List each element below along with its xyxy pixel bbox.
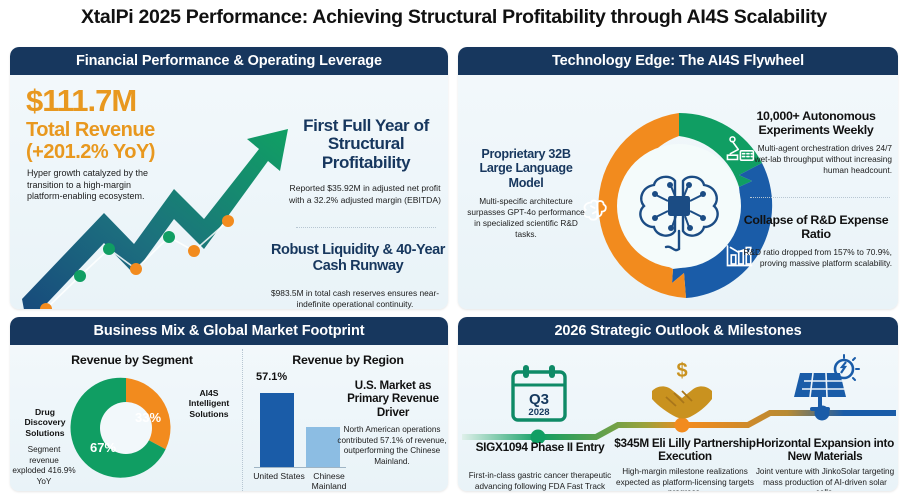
milestone-3-description: Joint venture with JinkoSolar targeting … (754, 467, 896, 491)
timeline-node-2 (675, 418, 690, 433)
divider (750, 197, 890, 198)
segment-label-ai4s: AI4S Intelligent Solutions (178, 388, 240, 419)
bar-chinese-mainland (306, 427, 340, 467)
total-revenue-description: Hyper growth catalyzed by the transition… (27, 168, 159, 203)
total-revenue-value: $111.7M (26, 85, 136, 116)
panel-business-body: Revenue by Segment Revenue by Region 33%… (10, 345, 448, 491)
us-market-description: North American operations contributed 57… (336, 425, 448, 468)
calendar-quarter: Q3 (529, 391, 549, 408)
bar-category-chinese-mainland: Chinese Mainland (296, 471, 362, 491)
segment-label-drug-discovery: Drug Discovery Solutions (16, 407, 74, 438)
region-chart-title: Revenue by Region (250, 353, 446, 367)
bar-united-states (260, 393, 294, 467)
milestone-2-title: $345M Eli Lilly Partnership Execution (610, 437, 760, 464)
revenue-by-segment-donut-chart: 33% 67% (70, 372, 182, 484)
profitability-description: Reported $35.92M in adjusted net profit … (282, 183, 448, 206)
panel-outlook-body: Q3 2028 $ (458, 345, 898, 491)
revenue-by-region-bar-chart (254, 367, 346, 479)
handshake-dollar-icon: $ (652, 360, 712, 419)
milestone-1-description: First-in-class gastric cancer therapeuti… (462, 471, 618, 491)
profitability-headline: First Full Year of Structural Profitabil… (286, 117, 446, 172)
liquidity-headline: Robust Liquidity & 40-Year Cash Runway (268, 243, 448, 275)
page-title: XtalPi 2025 Performance: Achieving Struc… (0, 6, 908, 29)
infographic-page: XtalPi 2025 Performance: Achieving Struc… (0, 0, 908, 497)
solar-panel-icon (794, 355, 859, 411)
panel-business-header: Business Mix & Global Market Footprint (10, 317, 448, 345)
panel-financial-header: Financial Performance & Operating Levera… (10, 47, 448, 75)
segment-value-ai4s: 33% (135, 410, 161, 425)
divider (242, 349, 243, 491)
panel-technology-body: Proprietary 32B Large Language Model Mul… (458, 75, 898, 309)
llm-description: Multi-specific architecture surpasses GP… (466, 196, 586, 240)
segment-value-drug-discovery: 67% (90, 440, 116, 455)
rd-ratio-headline: Collapse of R&D Expense Ratio (738, 213, 894, 242)
calendar-year: 2028 (528, 407, 549, 418)
calendar-icon: Q3 2028 (513, 365, 565, 420)
panel-technology-edge: Technology Edge: The AI4S Flywheel (458, 47, 898, 309)
experiments-description: Multi-agent orchestration drives 24/7 we… (740, 143, 892, 176)
panel-technology-header: Technology Edge: The AI4S Flywheel (458, 47, 898, 75)
total-revenue-label: Total Revenue (+201.2% YoY) (26, 119, 236, 164)
svg-text:$: $ (676, 360, 687, 382)
milestone-3-title: Horizontal Expansion into New Materials (754, 437, 896, 464)
segment-chart-title: Revenue by Segment (24, 353, 240, 367)
panel-outlook-header: 2026 Strategic Outlook & Milestones (458, 317, 898, 345)
milestone-1-title: SIGX1094 Phase II Entry (464, 441, 616, 454)
liquidity-description: $983.5M in total cash reserves ensures n… (262, 288, 448, 309)
rd-ratio-description: R&D ratio dropped from 157% to 70.9%, pr… (740, 247, 892, 269)
milestone-timeline: Q3 2028 $ (458, 351, 898, 443)
segment-description-drug-discovery: Segment revenue exploded 416.9% YoY (12, 445, 76, 487)
us-market-headline: U.S. Market as Primary Revenue Driver (340, 379, 446, 419)
bar-value-united-states: 57.1% (256, 371, 287, 383)
llm-headline: Proprietary 32B Large Language Model (468, 147, 584, 190)
panel-financial-performance: Financial Performance & Operating Levera… (10, 47, 448, 309)
experiments-headline: 10,000+ Autonomous Experiments Weekly (738, 109, 894, 138)
divider (296, 227, 436, 228)
panel-business-mix: Business Mix & Global Market Footprint R… (10, 317, 448, 491)
panel-strategic-outlook: 2026 Strategic Outlook & Milestones (458, 317, 898, 491)
milestone-2-description: High-margin milestone realizations expec… (612, 467, 758, 491)
panel-financial-body: $111.7M Total Revenue (+201.2% YoY) Hype… (10, 75, 448, 309)
